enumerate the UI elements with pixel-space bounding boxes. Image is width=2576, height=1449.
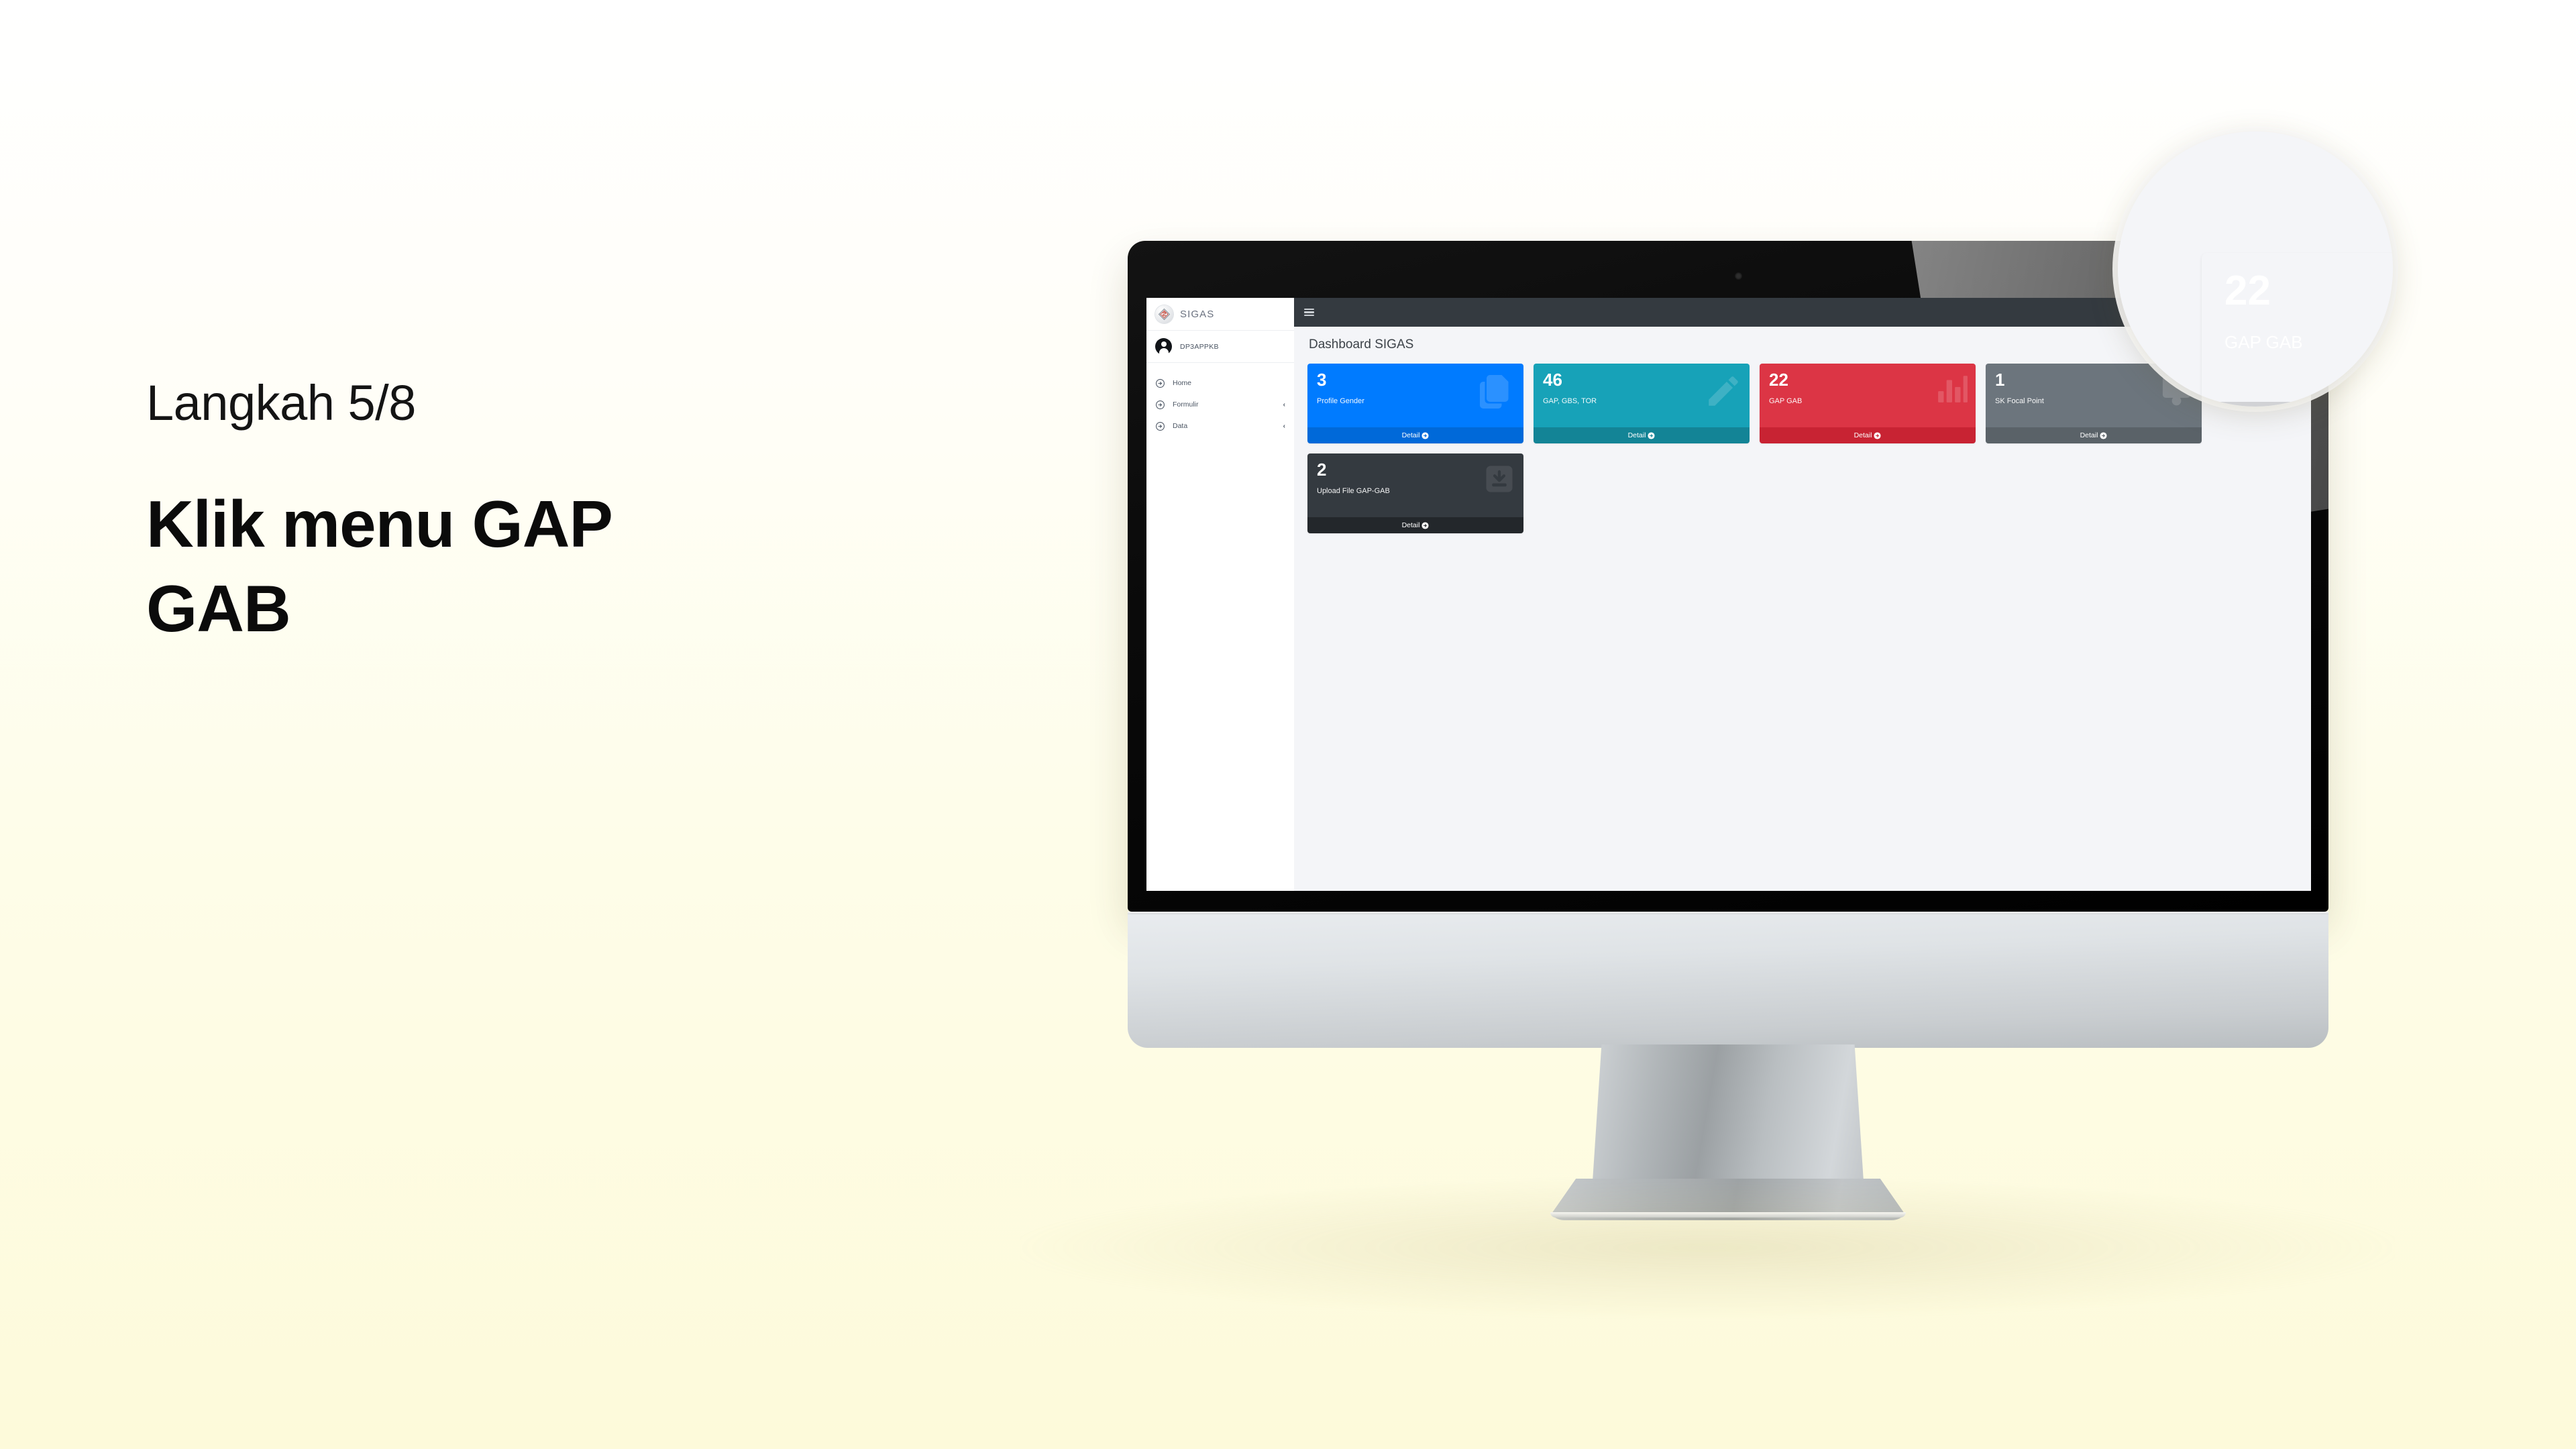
card-value: 22 — [2224, 270, 2393, 312]
dashboard-page: Dashboard SIGAS 3 Profile Gender — [1294, 327, 2311, 891]
brand-name: SIGAS — [1180, 309, 1214, 320]
card-detail-button[interactable]: Detail — [1307, 517, 1523, 533]
arrow-circle-right-icon — [1421, 522, 1429, 529]
sigas-diamond-logo-icon — [1155, 305, 1173, 323]
stat-card-gap-gab[interactable]: 22 GAP GAB — [1760, 364, 1976, 443]
user-circle-icon — [1155, 338, 1172, 355]
sidebar-brand[interactable]: SIGAS — [1146, 298, 1294, 331]
card-body: 22 GAP GAB — [1760, 364, 1976, 427]
sidebar-item-home[interactable]: Home — [1146, 372, 1294, 394]
stat-card-upload-file-gap-gab[interactable]: 2 Upload File GAP-GAB — [1307, 453, 1523, 533]
magnifier-content: 22 GAP GAB Detail — [2118, 131, 2393, 407]
monitor-drop-shadow — [1020, 1177, 2395, 1318]
card-detail-label: Detail — [1402, 521, 1420, 529]
card-body: 2 Upload File GAP-GAB — [1307, 453, 1523, 517]
card-detail-button[interactable]: Detail — [1986, 427, 2202, 443]
sidebar-item-formulir[interactable]: Formulir ‹ — [1146, 394, 1294, 415]
arrow-circle-right-icon — [1155, 421, 1165, 431]
card-body: 22 GAP GAB — [2202, 253, 2393, 402]
arrow-circle-right-icon — [1421, 432, 1429, 439]
card-detail-button[interactable]: Detail — [1307, 427, 1523, 443]
sidebar-user[interactable]: DP3APPKB — [1146, 331, 1294, 363]
monitor-chin-edge — [1128, 912, 2328, 914]
arrow-circle-right-icon — [1155, 400, 1165, 410]
card-body: 46 GAP, GBS, TOR — [1534, 364, 1750, 427]
chevron-left-icon: ‹ — [1283, 401, 1285, 409]
user-name: DP3APPKB — [1180, 343, 1219, 351]
stat-card-profile-gender[interactable]: 3 Profile Gender Detail — [1307, 364, 1523, 443]
magnified-card-gap-gab[interactable]: 22 GAP GAB Detail — [2202, 253, 2393, 407]
arrow-circle-right-icon — [2100, 432, 2107, 439]
arrow-circle-right-icon — [1874, 432, 1881, 439]
inbox-download-icon — [1482, 462, 1517, 500]
instruction-title: Klik menu GAP GAB — [146, 482, 763, 651]
copy-files-icon — [1477, 372, 1517, 415]
sidebar-item-label: Formulir — [1173, 400, 1276, 409]
card-detail-label: Detail — [1628, 431, 1646, 439]
pencil-edit-icon — [1704, 372, 1743, 414]
card-detail-label: Detail — [2080, 431, 2098, 439]
magnified-stage: 22 GAP GAB Detail — [2118, 131, 2393, 407]
bar-chart-icon — [1935, 372, 1969, 409]
monitor-chin — [1128, 912, 2328, 1048]
sidebar-item-label: Home — [1173, 379, 1285, 387]
chevron-left-icon: ‹ — [1283, 423, 1285, 430]
arrow-circle-right-icon — [1648, 432, 1655, 439]
card-detail-button[interactable]: Detail — [1760, 427, 1976, 443]
sidebar: SIGAS DP3APPKB Home — [1146, 298, 1294, 891]
sidebar-item-label: Data — [1173, 422, 1276, 430]
card-detail-label: Detail — [1854, 431, 1872, 439]
card-body: 3 Profile Gender — [1307, 364, 1523, 427]
arrow-circle-right-icon — [1155, 378, 1165, 388]
webcam-dot-icon — [1735, 272, 1742, 280]
slide-caption: Langkah 5/8 Klik menu GAP GAB — [146, 376, 884, 651]
card-detail-label: Detail — [1402, 431, 1420, 439]
stat-card-gap-gbs-tor[interactable]: 46 GAP, GBS, TOR Detail — [1534, 364, 1750, 443]
hamburger-menu-icon[interactable] — [1304, 309, 1314, 317]
card-detail-button[interactable]: Detail — [2202, 402, 2393, 407]
card-detail-button[interactable]: Detail — [1534, 427, 1750, 443]
sidebar-item-data[interactable]: Data ‹ — [1146, 415, 1294, 437]
card-label: GAP GAB — [2224, 332, 2393, 353]
zoom-callout-magnifier: 22 GAP GAB Detail — [2118, 131, 2393, 407]
step-label: Langkah 5/8 — [146, 376, 884, 430]
sidebar-nav: Home Formulir ‹ — [1146, 363, 1294, 437]
